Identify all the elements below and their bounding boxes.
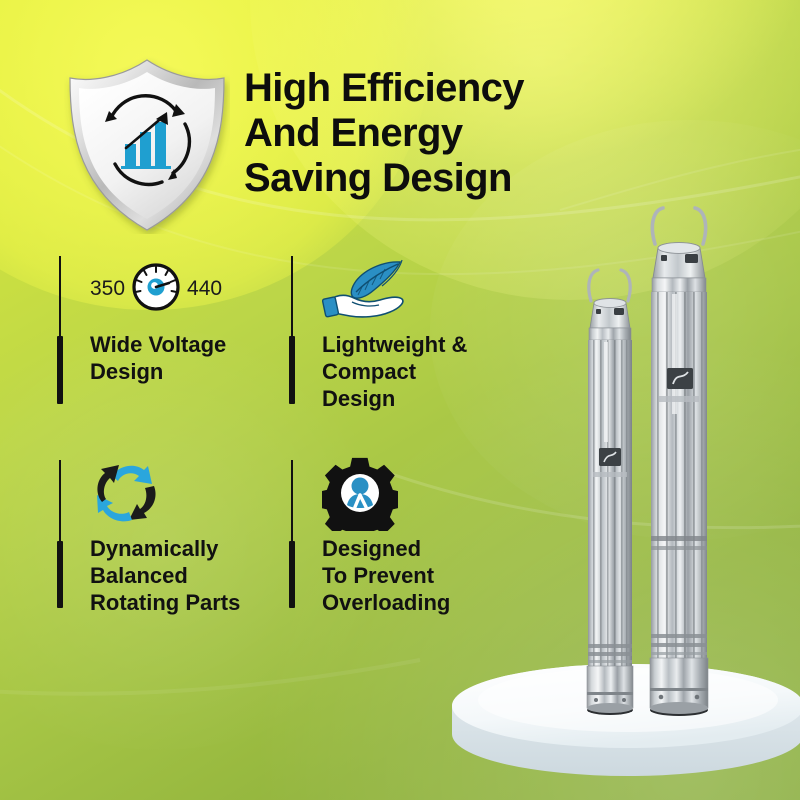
feature-text-line: Lightweight &	[322, 332, 520, 359]
headline-line-2: And Energy	[244, 111, 604, 156]
feature-label-wide-voltage: Wide Voltage Design	[90, 332, 288, 386]
feature-row-2: Dynamically Balanced Rotating Parts	[56, 456, 536, 616]
feature-lightweight-compact: Lightweight & Compact Design	[288, 252, 520, 412]
voltage-range-row: 350	[90, 252, 288, 326]
feature-text-line: Designed	[322, 536, 520, 563]
feature-divider	[56, 460, 64, 620]
feature-divider	[56, 256, 64, 416]
voltage-max-value: 440	[187, 277, 222, 301]
feather-in-hand-icon	[322, 252, 520, 326]
feature-text-line: Dynamically	[90, 536, 288, 563]
feature-divider	[288, 256, 296, 416]
product-feature-poster: High Efficiency And Energy Saving Design…	[0, 0, 800, 800]
gear-person-protection-icon	[322, 456, 520, 530]
feature-text-line: Overloading	[322, 590, 520, 617]
feature-row-1: 350	[56, 252, 536, 412]
voltage-gauge-icon	[130, 261, 182, 318]
feature-wide-voltage: 350	[56, 252, 288, 412]
feature-text-line: To Prevent	[322, 563, 520, 590]
headline-line-3: Saving Design	[244, 156, 604, 201]
feature-text-line: Balanced	[90, 563, 288, 590]
feature-text-line: Wide Voltage	[90, 332, 288, 359]
feature-text-line: Compact	[322, 359, 520, 386]
feature-text-line: Design	[90, 359, 288, 386]
feature-dynamically-balanced: Dynamically Balanced Rotating Parts	[56, 456, 288, 616]
efficiency-shield-badge	[64, 56, 230, 234]
feature-divider	[288, 460, 296, 620]
feature-label-prevent-overloading: Designed To Prevent Overloading	[322, 536, 520, 616]
feature-prevent-overloading: Designed To Prevent Overloading	[288, 456, 520, 616]
stainless-steel-submersible-pumps	[560, 196, 800, 726]
page-title: High Efficiency And Energy Saving Design	[244, 66, 604, 200]
feature-text-line: Rotating Parts	[90, 590, 288, 617]
feature-grid: 350	[56, 252, 536, 617]
headline-line-1: High Efficiency	[244, 66, 604, 111]
feature-text-line: Design	[322, 386, 520, 413]
feature-label-lightweight: Lightweight & Compact Design	[322, 332, 520, 412]
submersible-pump-short	[587, 270, 633, 715]
rotating-arrows-icon	[90, 456, 288, 530]
submersible-pump-tall	[650, 208, 708, 716]
voltage-min-value: 350	[90, 277, 125, 301]
feature-label-dynamically-balanced: Dynamically Balanced Rotating Parts	[90, 536, 288, 616]
